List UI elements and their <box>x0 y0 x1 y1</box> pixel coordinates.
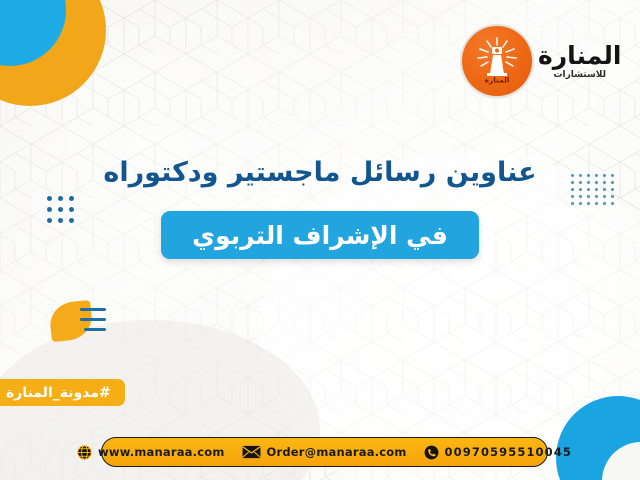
contact-website[interactable]: www.manaraa.com <box>77 445 224 460</box>
dot-grid-left <box>41 196 74 229</box>
subtitle-pill[interactable]: في الإشراف التربوي <box>161 211 479 259</box>
brand-wordmark: المنارة للاستشارات <box>538 43 621 80</box>
lighthouse-icon: المنارة <box>462 26 532 96</box>
whatsapp-phone-icon <box>424 445 439 460</box>
svg-text:المنارة: المنارة <box>484 76 509 85</box>
contact-phone[interactable]: 00970595510045 <box>424 445 572 460</box>
contact-phone-value: 00970595510045 <box>445 445 572 459</box>
envelope-icon <box>242 445 261 459</box>
page-title: عناوين رسائل ماجستير ودكتوراه <box>0 157 640 188</box>
contact-website-value: www.manaraa.com <box>98 445 224 459</box>
contact-bar: www.manaraa.com Order@manaraa.com 009705… <box>101 437 548 467</box>
subtitle-pill-label: في الإشراف التربوي <box>192 221 448 250</box>
brand-logo[interactable]: المنارة للاستشارات <box>462 26 621 96</box>
contact-email-value: Order@manaraa.com <box>267 445 407 459</box>
hashtag-badge[interactable]: #مدونة_المنارة <box>0 379 125 406</box>
globe-icon <box>77 445 92 460</box>
contact-email[interactable]: Order@manaraa.com <box>242 445 407 459</box>
brand-tagline: للاستشارات <box>553 71 606 80</box>
hashtag-label: #مدونة_المنارة <box>6 385 111 401</box>
speed-lines-icon <box>80 308 106 338</box>
brand-name: المنارة <box>538 43 621 68</box>
poster-canvas: المنارة للاستشارات <box>0 0 640 480</box>
